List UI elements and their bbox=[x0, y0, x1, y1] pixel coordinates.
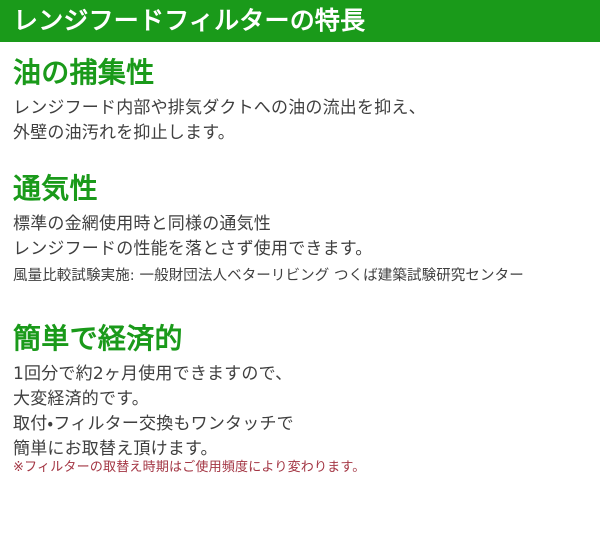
header-banner: レンジフードフィルターの特長 bbox=[0, 0, 600, 42]
body-line: 大変経済的です。 bbox=[13, 387, 600, 412]
footnote-note: ※フィルターの取替え時期はご使用頻度により変わります。 bbox=[13, 459, 365, 477]
body-line: 標準の金網使用時と同様の通気性 bbox=[13, 212, 600, 237]
bottom-whitespace bbox=[0, 485, 600, 541]
body-line: 外壁の油汚れを抑止します。 bbox=[13, 121, 600, 146]
test-institution-line: 風量比較試験実施: 一般財団法人ベターリビング つくば建築試験研究センター bbox=[13, 262, 600, 288]
page-title: レンジフードフィルターの特長 bbox=[0, 0, 365, 42]
section-heading: 油の捕集性 bbox=[13, 56, 600, 90]
body-line: 1回分で約2ヶ月使用できますので、 bbox=[13, 362, 600, 387]
feature-section-airflow: 通気性 標準の金網使用時と同様の通気性 レンジフードの性能を落とさず使用できます… bbox=[0, 172, 600, 288]
content-area: 油の捕集性 レンジフード内部や排気ダクトへの油の流出を抑え、 外壁の油汚れを抑止… bbox=[0, 42, 600, 462]
section-body: 1回分で約2ヶ月使用できますので、 大変経済的です。 取付・フィルター交換もワン… bbox=[13, 362, 600, 462]
feature-section-economical: 簡単で経済的 1回分で約2ヶ月使用できますので、 大変経済的です。 取付・フィル… bbox=[0, 322, 600, 462]
body-line: レンジフード内部や排気ダクトへの油の流出を抑え、 bbox=[13, 96, 600, 121]
section-heading: 通気性 bbox=[13, 172, 600, 206]
section-heading: 簡単で経済的 bbox=[13, 322, 600, 356]
feature-section-oil-capture: 油の捕集性 レンジフード内部や排気ダクトへの油の流出を抑え、 外壁の油汚れを抑止… bbox=[0, 56, 600, 146]
body-line: 取付・フィルター交換もワンタッチで bbox=[13, 412, 600, 437]
body-line: レンジフードの性能を落とさず使用できます。 bbox=[13, 237, 600, 262]
product-feature-page: レンジフードフィルターの特長 油の捕集性 レンジフード内部や排気ダクトへの油の流… bbox=[0, 0, 600, 541]
section-body: レンジフード内部や排気ダクトへの油の流出を抑え、 外壁の油汚れを抑止します。 bbox=[13, 96, 600, 146]
section-body: 標準の金網使用時と同様の通気性 レンジフードの性能を落とさず使用できます。 風量… bbox=[13, 212, 600, 288]
